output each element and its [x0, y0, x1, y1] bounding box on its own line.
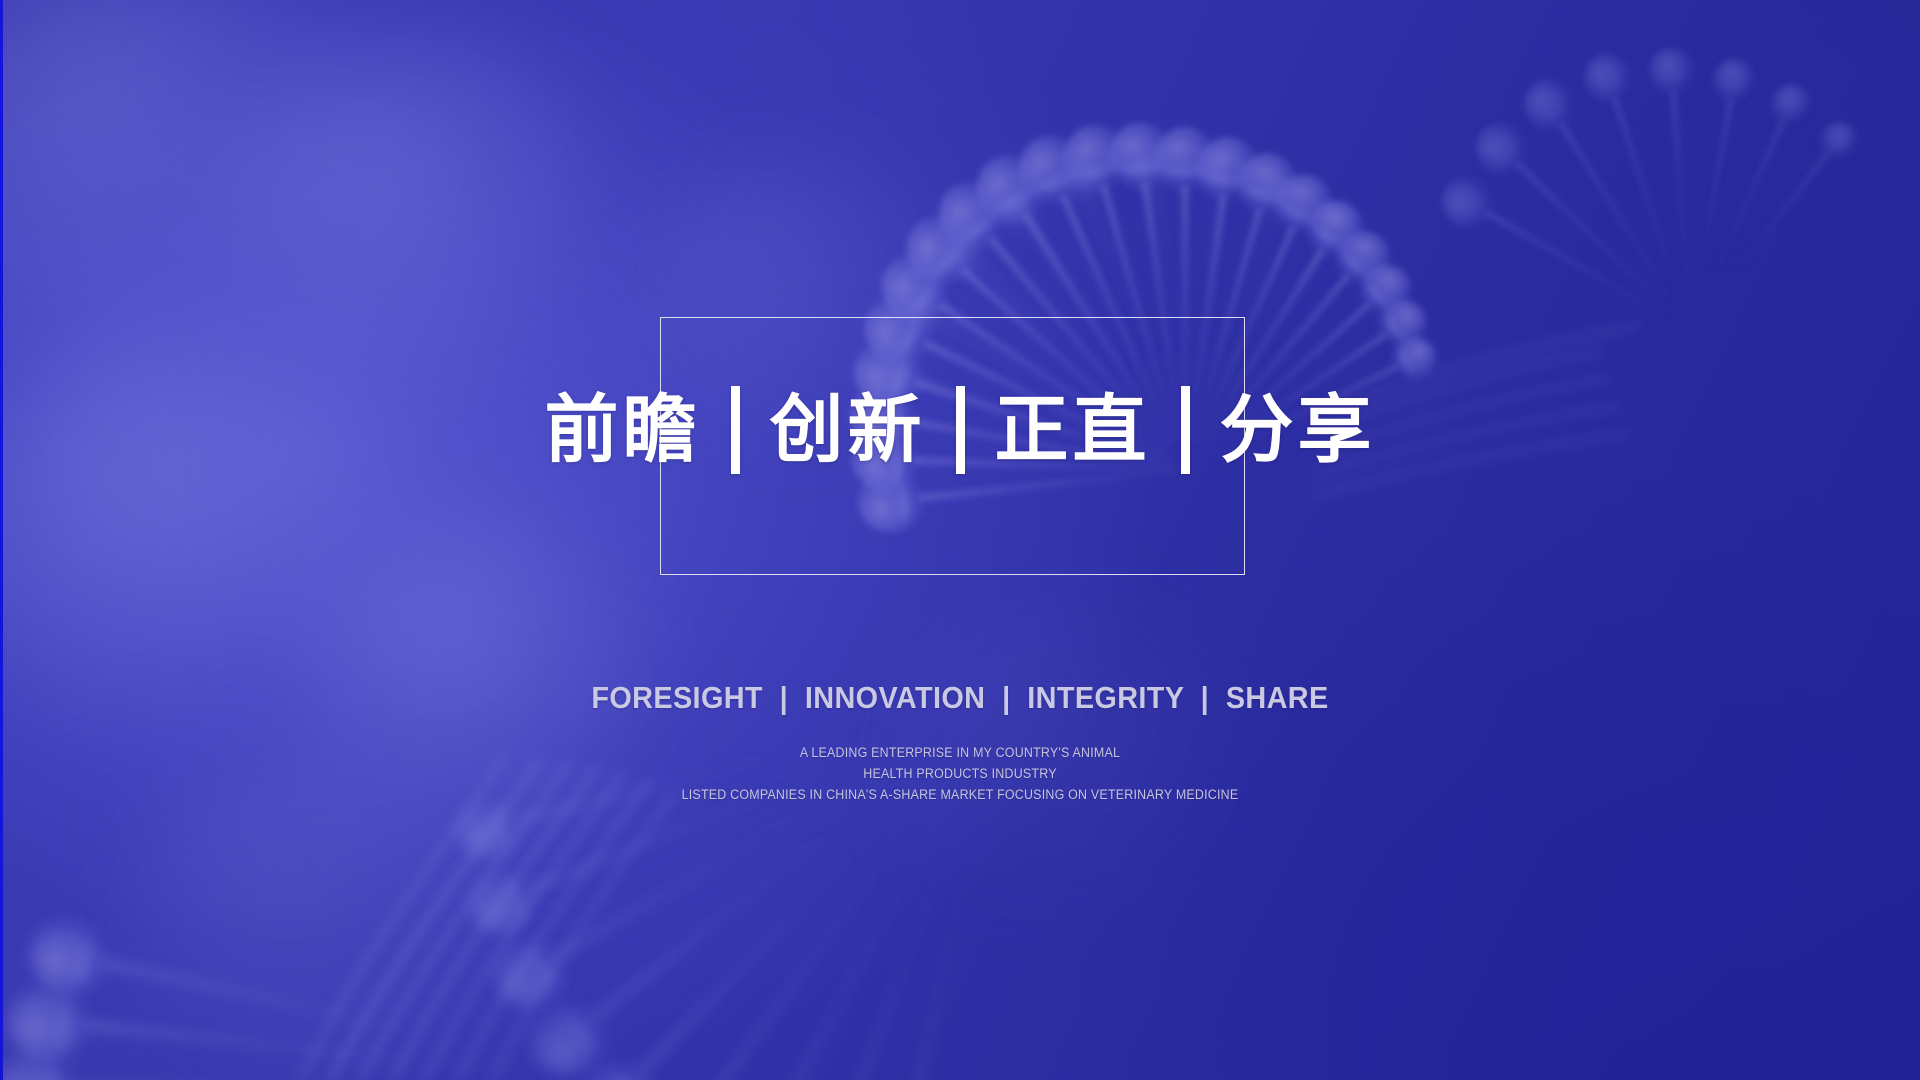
headline-separator-1 — [731, 386, 740, 474]
tagline-word-share: SHARE — [1226, 680, 1329, 715]
tagline-values-english: FORESIGHT | INNOVATION | INTEGRITY | SHA… — [67, 680, 1853, 716]
headline-word-innovation: 创新 — [770, 393, 926, 467]
subtitle-block: A LEADING ENTERPRISE IN MY COUNTRY'S ANI… — [77, 742, 1843, 805]
headline-values-chinese: 前瞻 创新 正直 分享 — [0, 386, 1920, 474]
left-edge-accent-stripe — [0, 0, 3, 1080]
headline-word-foresight: 前瞻 — [545, 393, 701, 467]
subtitle-line-2: HEALTH PRODUCTS INDUSTRY — [77, 763, 1843, 784]
tagline-word-integrity: INTEGRITY — [1027, 680, 1184, 715]
dna-helix-artwork — [0, 0, 1920, 1080]
tagline-word-innovation: INNOVATION — [805, 680, 985, 715]
headline-word-share: 分享 — [1220, 393, 1376, 467]
tagline-separator-3: | — [1192, 680, 1217, 715]
headline-separator-3 — [1181, 386, 1190, 474]
tagline-separator-1: | — [771, 680, 796, 715]
subtitle-line-1: A LEADING ENTERPRISE IN MY COUNTRY'S ANI… — [77, 742, 1843, 763]
tagline-word-foresight: FORESIGHT — [591, 680, 763, 715]
banner-stage: 前瞻 创新 正直 分享 FORESIGHT | INNOVATION | INT… — [0, 0, 1920, 1080]
headline-separator-2 — [956, 386, 965, 474]
subtitle-line-3: LISTED COMPANIES IN CHINA'S A-SHARE MARK… — [77, 784, 1843, 805]
tagline-separator-2: | — [994, 680, 1019, 715]
headline-word-integrity: 正直 — [995, 393, 1151, 467]
